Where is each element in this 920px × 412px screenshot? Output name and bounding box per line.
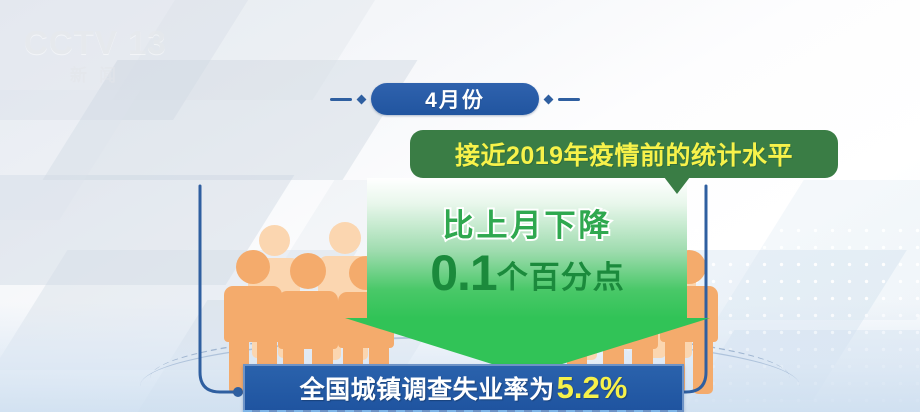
context-callout-tail-icon <box>664 177 690 194</box>
context-callout-text: 接近2019年疫情前的统计水平 <box>455 136 793 172</box>
title-diamond-right-icon <box>544 94 554 104</box>
change-value-row: 0.1个百分点 <box>345 244 710 302</box>
infographic-stage: CCTV 13 新闻 <box>0 0 920 412</box>
context-callout-bubble[interactable]: 接近2019年疫情前的统计水平 <box>410 130 838 178</box>
period-title-row: 4月份 <box>330 82 580 116</box>
metric-value: 5.2% <box>557 370 628 406</box>
metric-banner[interactable]: 全国城镇调查失业率为5.2% <box>243 364 684 412</box>
title-dash-left-icon <box>330 98 352 101</box>
down-arrow-callout: 比上月下降 比上月下降 0.1个百分点 <box>345 178 710 373</box>
metric-label: 全国城镇调查失业率为 <box>300 370 555 406</box>
period-title-badge[interactable]: 4月份 <box>371 83 539 115</box>
period-title-label: 4月份 <box>425 84 485 114</box>
title-dash-right-icon <box>558 98 580 101</box>
change-label: 比上月下降 <box>345 200 710 245</box>
change-value: 0.1 <box>430 245 497 301</box>
title-diamond-left-icon <box>357 94 367 104</box>
change-unit: 个百分点 <box>497 260 625 295</box>
